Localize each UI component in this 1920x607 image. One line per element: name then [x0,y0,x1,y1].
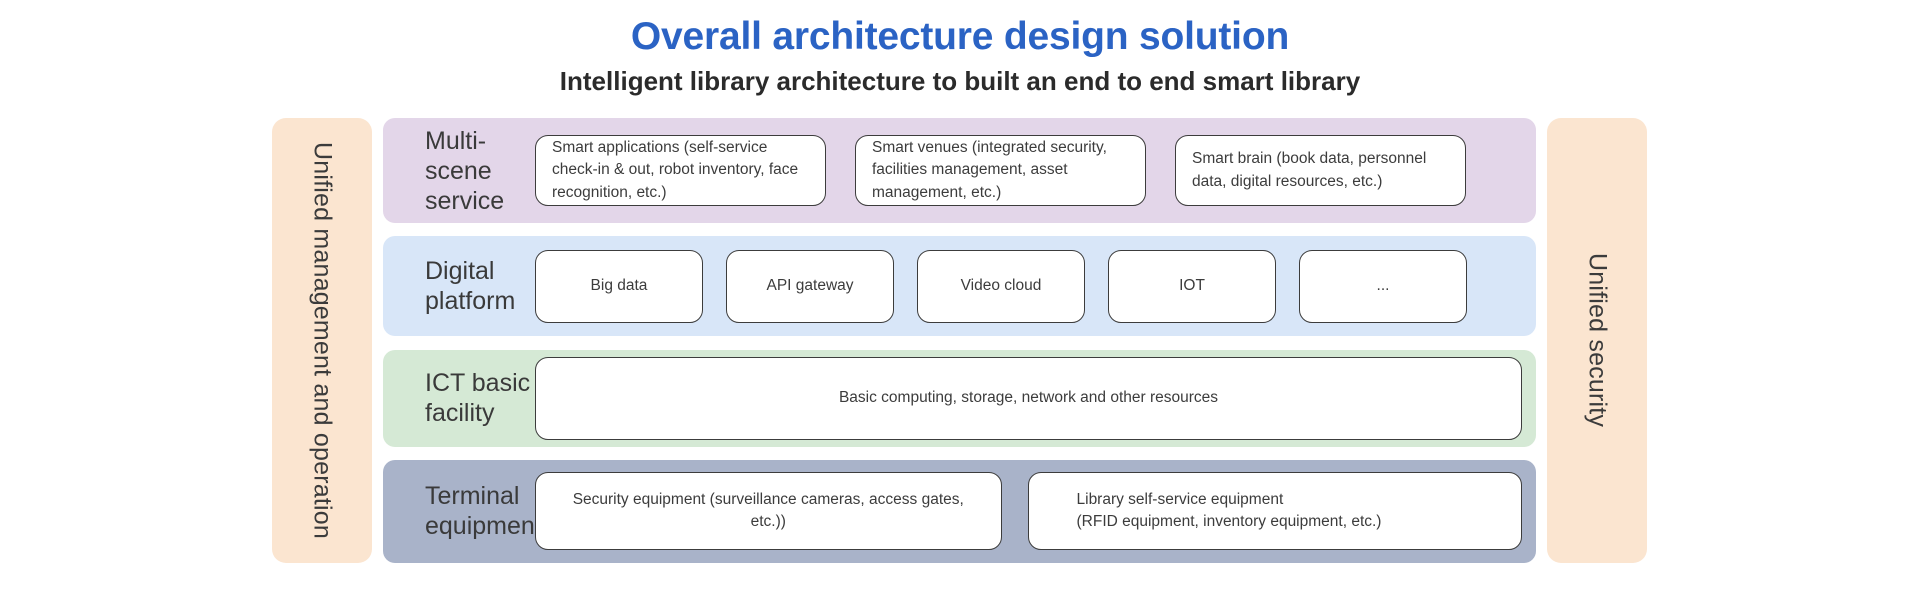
card-more-ellipsis[interactable]: ... [1299,250,1467,323]
layer-terminal-equipments: Terminal equipments Security equipment (… [383,460,1536,563]
pillar-unified-management: Unified management and operation [272,118,372,563]
layer-cards-terminal-equipments: Security equipment (surveillance cameras… [535,460,1522,563]
card-library-self-service-equipment[interactable]: Library self-service equipment (RFID equ… [1028,472,1523,550]
layer-cards-multi-scene-service: Smart applications (self-service check-i… [535,118,1522,223]
layer-label-multi-scene-service: Multi-scene service [383,126,535,216]
title-block: Overall architecture design solution Int… [0,14,1920,97]
card-basic-resources[interactable]: Basic computing, storage, network and ot… [535,357,1522,440]
layer-label-terminal-equipments: Terminal equipments [383,481,535,541]
card-iot[interactable]: IOT [1108,250,1276,323]
pillar-right-label: Unified security [1583,253,1612,427]
card-smart-brain[interactable]: Smart brain (book data, personnel data, … [1175,135,1466,206]
architecture-diagram: Unified management and operation Unified… [0,118,1920,563]
pillar-unified-security: Unified security [1547,118,1647,563]
card-security-equipment[interactable]: Security equipment (surveillance cameras… [535,472,1002,550]
layer-digital-platform: Digital platform Big data API gateway Vi… [383,236,1536,336]
card-video-cloud[interactable]: Video cloud [917,250,1085,323]
layer-ict-basic-facility: ICT basic facility Basic computing, stor… [383,350,1536,447]
page-subtitle: Intelligent library architecture to buil… [0,66,1920,97]
layer-cards-digital-platform: Big data API gateway Video cloud IOT ... [535,236,1522,336]
card-big-data[interactable]: Big data [535,250,703,323]
layer-label-ict-basic-facility: ICT basic facility [383,368,535,428]
layer-multi-scene-service: Multi-scene service Smart applications (… [383,118,1536,223]
layer-label-digital-platform: Digital platform [383,256,535,316]
pillar-left-label: Unified management and operation [308,142,337,539]
layer-cards-ict-basic-facility: Basic computing, storage, network and ot… [535,350,1522,447]
layer-stack: Multi-scene service Smart applications (… [383,118,1536,563]
card-smart-venues[interactable]: Smart venues (integrated security, facil… [855,135,1146,206]
card-smart-applications[interactable]: Smart applications (self-service check-i… [535,135,826,206]
page-title: Overall architecture design solution [0,14,1920,60]
card-api-gateway[interactable]: API gateway [726,250,894,323]
